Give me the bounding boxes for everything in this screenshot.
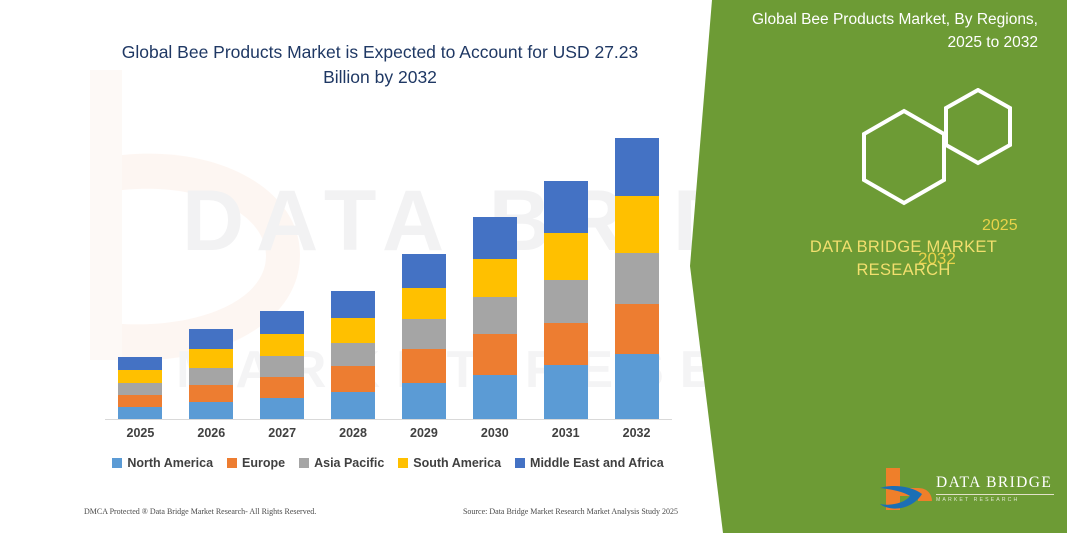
stacked-bar (189, 329, 233, 420)
stacked-bar (615, 138, 659, 420)
bar-group (530, 120, 601, 420)
footer: DMCA Protected ® Data Bridge Market Rese… (84, 507, 678, 516)
legend-item[interactable]: Asia Pacific (299, 456, 384, 470)
x-axis-label-2027: 2027 (247, 426, 318, 446)
bar-segment (473, 297, 517, 334)
bar-group (601, 120, 672, 420)
footer-source: Source: Data Bridge Market Research Mark… (463, 507, 678, 516)
logo-divider (936, 494, 1054, 495)
bar-segment (615, 196, 659, 253)
bar-segment (615, 253, 659, 304)
x-axis-label-2031: 2031 (530, 426, 601, 446)
footer-copyright: DMCA Protected ® Data Bridge Market Rese… (84, 507, 316, 516)
hexagon-2032-shape (864, 111, 944, 203)
data-bridge-logo: DATA BRIDGE MARKET RESEARCH (878, 466, 1058, 514)
bar-segment (544, 181, 588, 233)
bar-segment (260, 377, 304, 398)
x-axis-label-2032: 2032 (601, 426, 672, 446)
bar-segment (473, 334, 517, 375)
bar-segment (544, 365, 588, 420)
stacked-bar (331, 291, 375, 420)
bar-segment (615, 354, 659, 420)
bar-segment (402, 349, 446, 383)
bar-segment (189, 329, 233, 349)
legend-label: Asia Pacific (314, 456, 384, 470)
bar-segment (615, 304, 659, 354)
bar-group (459, 120, 530, 420)
bar-segment (189, 385, 233, 402)
logo-wordmark: DATA BRIDGE MARKET RESEARCH (936, 474, 1054, 503)
stacked-bar (544, 181, 588, 420)
bar-segment (473, 259, 517, 297)
infographic-root: DATA BRIDGE MARKET RESEARCH Global Bee P… (0, 0, 1067, 533)
bar-segment (118, 395, 162, 407)
bar-group (247, 120, 318, 420)
legend-label: Europe (242, 456, 285, 470)
legend-item[interactable]: Europe (227, 456, 285, 470)
logo-title: DATA BRIDGE (936, 474, 1054, 492)
bar-group (176, 120, 247, 420)
bar-segment (189, 368, 233, 385)
x-axis-label-2029: 2029 (389, 426, 460, 446)
x-axis-label-2028: 2028 (318, 426, 389, 446)
bar-group (105, 120, 176, 420)
bar-segment (544, 233, 588, 280)
legend-label: Middle East and Africa (530, 456, 664, 470)
stacked-bar (118, 357, 162, 420)
legend-item[interactable]: Middle East and Africa (515, 456, 664, 470)
bar-segment (402, 254, 446, 288)
legend-swatch-icon (398, 458, 408, 468)
bar-segment (118, 370, 162, 383)
bar-segment (544, 323, 588, 365)
bar-segment (473, 217, 517, 259)
bar-segment (331, 392, 375, 420)
logo-mark-icon (878, 466, 934, 512)
legend-label: South America (413, 456, 501, 470)
bar-segment (118, 357, 162, 370)
bar-segment (189, 349, 233, 368)
bar-group (318, 120, 389, 420)
hexagon-2025-label: 2025 (982, 217, 1018, 235)
bar-segment (331, 318, 375, 343)
chart-title: Global Bee Products Market is Expected t… (100, 40, 660, 90)
brand-name: DATA BRIDGE MARKET RESEARCH (766, 236, 1041, 282)
x-axis-label-2025: 2025 (105, 426, 176, 446)
bar-segment (615, 138, 659, 196)
legend-swatch-icon (515, 458, 525, 468)
stacked-bar (260, 311, 304, 420)
bar-group (389, 120, 460, 420)
logo-subtitle: MARKET RESEARCH (936, 497, 1054, 503)
bar-segment (544, 280, 588, 323)
hexagon-2025-shape (946, 90, 1010, 163)
stacked-bar (402, 254, 446, 420)
bar-segment (473, 375, 517, 420)
stacked-bar (473, 217, 517, 420)
x-axis-label-2030: 2030 (459, 426, 530, 446)
bar-segment (331, 343, 375, 366)
hexagon-badges: 2025 2032 (810, 88, 1060, 213)
legend-swatch-icon (112, 458, 122, 468)
bar-segment (260, 356, 304, 377)
legend-item[interactable]: South America (398, 456, 501, 470)
stacked-bar-chart (105, 120, 672, 420)
chart-legend: North AmericaEuropeAsia PacificSouth Ame… (100, 456, 676, 470)
green-panel-content: Global Bee Products Market, By Regions, … (740, 0, 1067, 533)
bar-segment (402, 383, 446, 420)
bar-segment (331, 291, 375, 318)
legend-label: North America (127, 456, 213, 470)
bar-segment (402, 288, 446, 319)
legend-item[interactable]: North America (112, 456, 213, 470)
legend-swatch-icon (227, 458, 237, 468)
bar-segment (260, 398, 304, 420)
bar-segment (260, 311, 304, 334)
bar-segment (402, 319, 446, 349)
panel-title: Global Bee Products Market, By Regions, … (748, 8, 1038, 54)
legend-swatch-icon (299, 458, 309, 468)
x-axis-labels: 20252026202720282029203020312032 (105, 426, 672, 446)
x-axis-line (105, 419, 672, 420)
bar-segment (189, 402, 233, 420)
bar-segment (331, 366, 375, 392)
bar-segment (118, 383, 162, 395)
bar-segment (260, 334, 304, 356)
x-axis-label-2026: 2026 (176, 426, 247, 446)
